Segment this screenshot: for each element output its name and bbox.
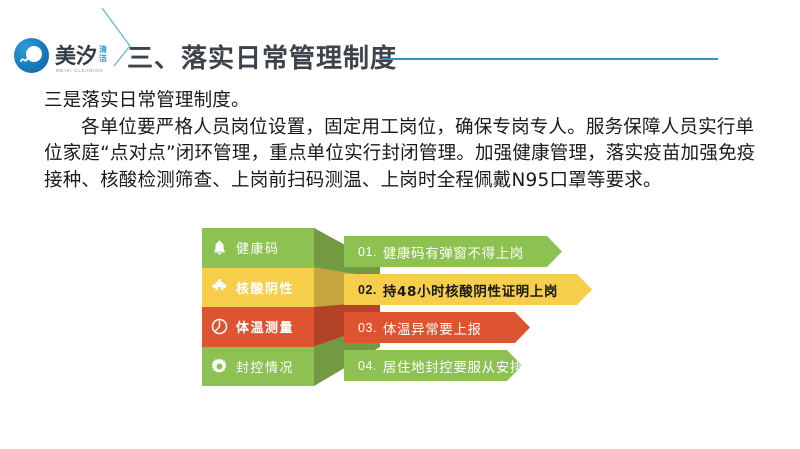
body-paragraph-2: 各单位要严格人员岗位设置，固定用工岗位，确保专岗专人。服务保障人员实行单位家庭“…	[44, 115, 760, 195]
arrow-number-1: 02.	[358, 283, 377, 297]
arrow-number-3: 04.	[358, 359, 377, 373]
body-paragraph-1: 三是落实日常管理制度。	[44, 88, 760, 115]
diagram-left-item-2[interactable]: 体温测量	[202, 307, 314, 347]
body-content: 三是落实日常管理制度。 各单位要严格人员岗位设置，固定用工岗位，确保专岗专人。服…	[44, 88, 760, 194]
diagram-arrow-3[interactable]: 04. 居住地封控要服从安排	[344, 350, 522, 381]
arrow-text-2: 体温异常要上报	[383, 318, 482, 338]
diagram-left-label-0: 健康码	[236, 238, 280, 257]
diagram-left-label-3: 封控情况	[236, 357, 294, 376]
arrow-text-3: 居住地封控要服从安排	[383, 356, 524, 376]
diagram-left-column: 健康码 核酸阴性 体温测量	[202, 228, 314, 386]
bell-icon	[210, 238, 229, 257]
diagram-left-item-0[interactable]: 健康码	[202, 228, 314, 268]
diagram-left-label-1: 核酸阴性	[236, 278, 294, 297]
diagram-arrow-list: 01. 健康码有弹窗不得上岗 02. 持48小时核酸阴性证明上岗 03. 体温异…	[344, 236, 646, 382]
brand-logo: 美汐 清 洁 MEIXI CLEANING	[14, 38, 107, 73]
arrow-number-2: 03.	[358, 321, 377, 335]
page-title: 三、落实日常管理制度	[127, 38, 397, 75]
logo-main-text: 美汐	[55, 45, 97, 67]
diagram-left-item-3[interactable]: 封控情况	[202, 347, 314, 387]
requirements-diagram: 健康码 核酸阴性 体温测量	[196, 228, 646, 392]
logo-wave-icon	[20, 53, 34, 66]
logo-english-text: MEIXI CLEANING	[56, 68, 104, 73]
diagram-left-item-1[interactable]: 核酸阴性	[202, 268, 314, 308]
diagram-arrow-1[interactable]: 02. 持48小时核酸阴性证明上岗	[344, 274, 592, 305]
logo-mark-icon	[14, 38, 49, 73]
diagram-left-label-2: 体温测量	[236, 317, 294, 336]
title-underline-rule	[382, 58, 718, 60]
diagram-arrow-2[interactable]: 03. 体温异常要上报	[344, 312, 530, 343]
arrow-text-1: 持48小时核酸阴性证明上岗	[383, 280, 558, 300]
arrow-text-0: 健康码有弹窗不得上岗	[383, 242, 524, 262]
diagram-arrow-0[interactable]: 01. 健康码有弹窗不得上岗	[344, 236, 562, 267]
arrow-number-0: 01.	[358, 245, 377, 259]
puzzle-icon	[210, 278, 229, 297]
page-header: 美汐 清 洁 MEIXI CLEANING 三、落实日常管理制度	[0, 0, 800, 86]
gear-icon	[210, 357, 229, 376]
clock-icon	[210, 317, 229, 336]
